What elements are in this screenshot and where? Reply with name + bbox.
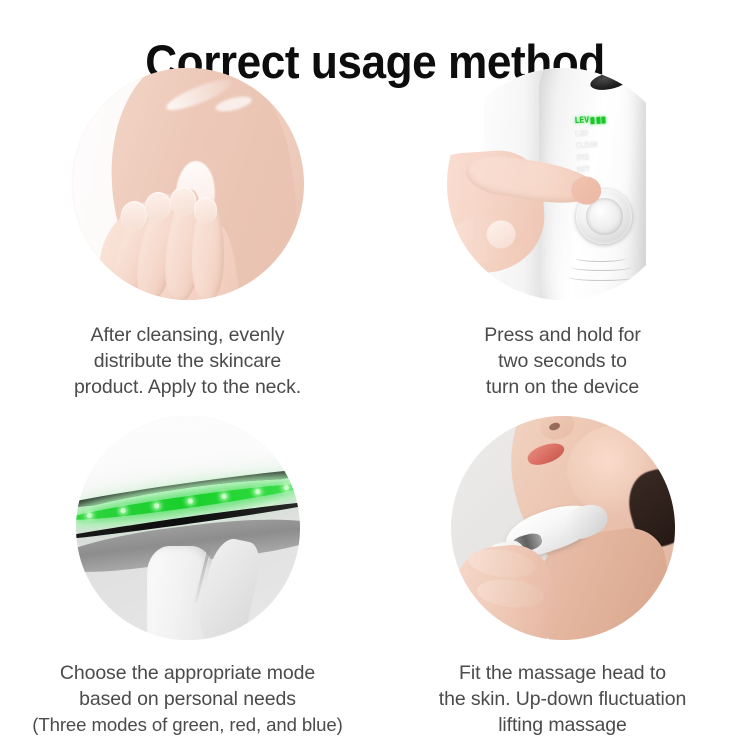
caption-line: Press and hold for xyxy=(398,322,728,348)
step-3-caption: Choose the appropriate mode based on per… xyxy=(23,660,353,738)
massaging-neck-with-device-photo xyxy=(451,416,675,640)
caption-line: two seconds to xyxy=(398,348,728,374)
caption-line: based on personal needs xyxy=(23,686,353,712)
caption-line: Fit the massage head to xyxy=(398,660,728,686)
caption-line: turn on the device xyxy=(398,374,728,400)
steps-grid: After cleansing, evenly distribute the s… xyxy=(0,66,750,750)
caption-line: After cleansing, evenly xyxy=(23,322,353,348)
caption-line: (Three modes of green, red, and blue) xyxy=(23,712,353,738)
level-indicator: LEV xyxy=(575,112,654,126)
pressing-power-button-photo: LEV LED CLEAN EMS HOT xyxy=(447,68,679,300)
caption-line: Choose the appropriate mode xyxy=(23,660,353,686)
device-display-panel: LEV LED CLEAN EMS HOT xyxy=(575,112,657,186)
step-3: Choose the appropriate mode based on per… xyxy=(0,408,375,750)
step-4-photo-wrap xyxy=(451,416,675,640)
caption-line: lifting massage xyxy=(398,712,728,738)
step-3-photo-wrap xyxy=(76,416,300,640)
caption-line: product. Apply to the neck. xyxy=(23,374,353,400)
caption-line: the skin. Up-down fluctuation xyxy=(398,686,728,712)
caption-line: distribute the skincare xyxy=(23,348,353,374)
step-1-caption: After cleansing, evenly distribute the s… xyxy=(23,322,353,400)
green-led-mode-photo xyxy=(76,416,300,640)
level-label: LEV xyxy=(575,116,590,127)
step-1-photo-wrap xyxy=(72,68,304,300)
level-bars xyxy=(591,116,606,124)
applying-skincare-to-neck-photo xyxy=(72,68,304,300)
step-2-photo-wrap: LEV LED CLEAN EMS HOT xyxy=(447,68,679,300)
device-grille xyxy=(567,254,637,291)
mode-label-hot: HOT xyxy=(577,161,656,174)
mode-label-ems: EMS xyxy=(577,149,656,162)
step-1: After cleansing, evenly distribute the s… xyxy=(0,66,375,408)
step-2-caption: Press and hold for two seconds to turn o… xyxy=(398,322,728,400)
mode-label-clean: CLEAN xyxy=(576,137,655,150)
step-4: Fit the massage head to the skin. Up-dow… xyxy=(375,408,750,750)
mode-label-led: LED xyxy=(575,125,654,138)
step-2: LEV LED CLEAN EMS HOT xyxy=(375,66,750,408)
usage-instruction-page: Correct usage method xyxy=(0,0,750,750)
step-4-caption: Fit the massage head to the skin. Up-dow… xyxy=(398,660,728,738)
